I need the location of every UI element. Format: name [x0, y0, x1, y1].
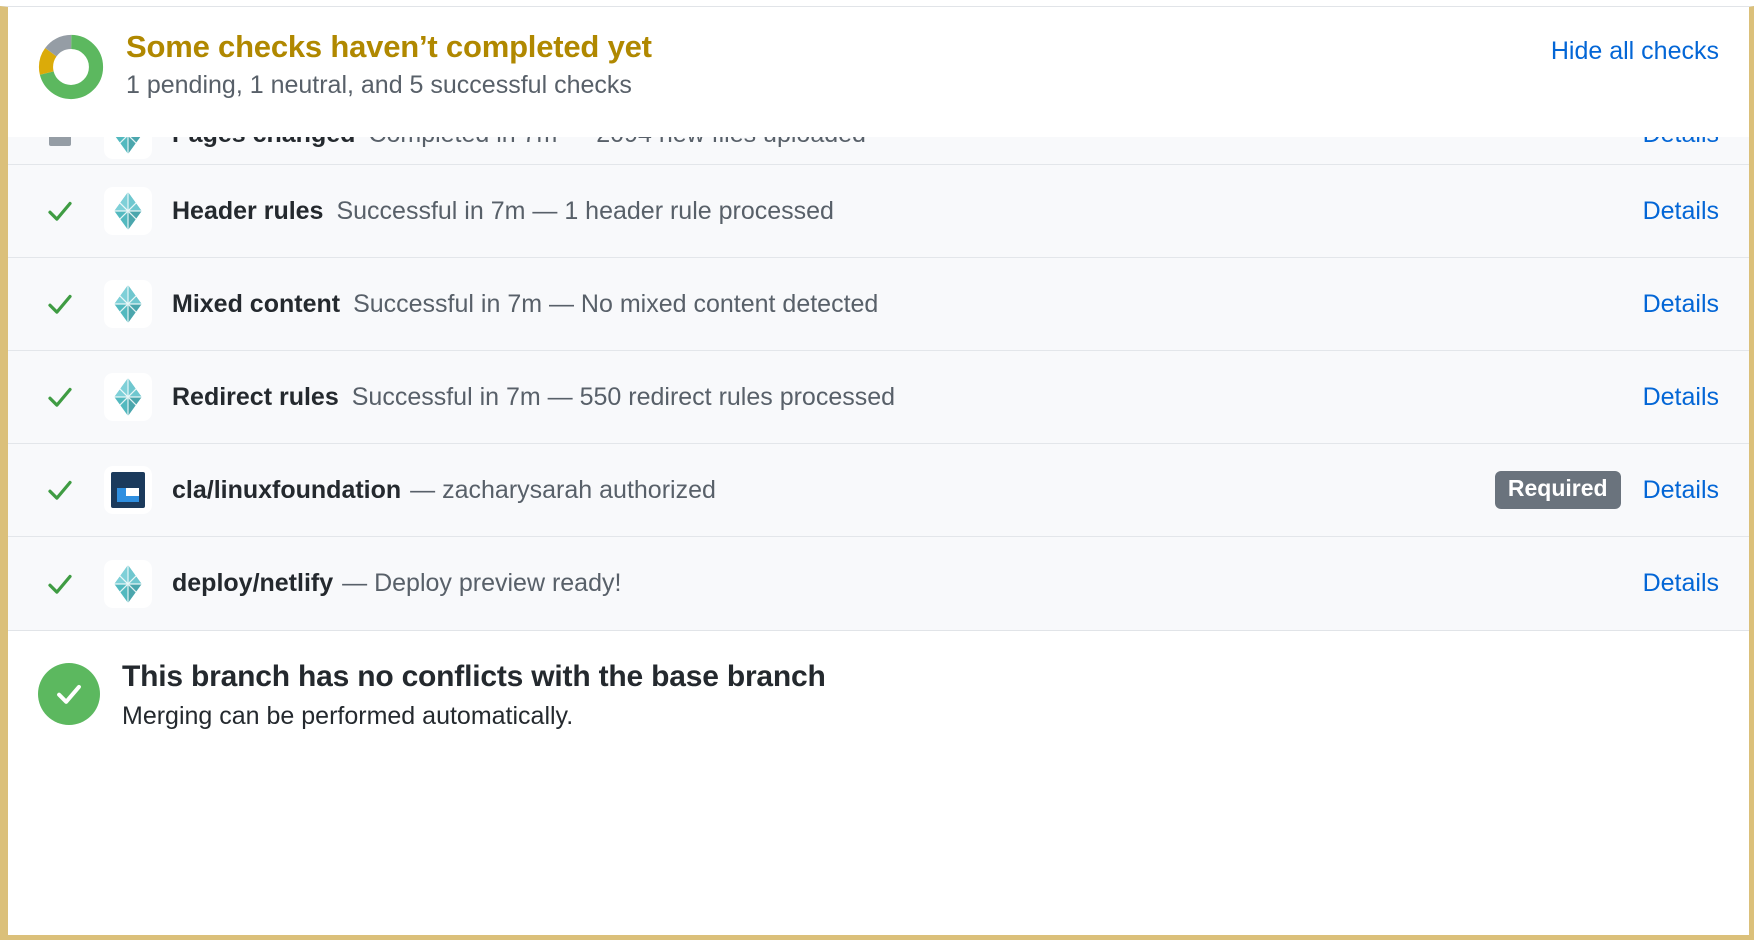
netlify-logo-icon — [104, 280, 152, 328]
check-circle-icon — [38, 663, 100, 725]
details-link[interactable]: Details — [1643, 383, 1719, 412]
details-link[interactable]: Details — [1643, 290, 1719, 319]
details-link[interactable]: Details — [1643, 476, 1719, 505]
table-row[interactable]: Header rules Successful in 7m — 1 header… — [8, 165, 1749, 258]
merge-conflict-status: This branch has no conflicts with the ba… — [8, 630, 1749, 765]
linuxfoundation-logo-icon — [104, 466, 152, 514]
merge-status-title: This branch has no conflicts with the ba… — [122, 659, 1719, 695]
check-name: Mixed content — [172, 290, 340, 319]
table-row[interactable]: Redirect rules Successful in 7m — 550 re… — [8, 351, 1749, 444]
check-description: Successful in 7m — 1 header rule process… — [336, 197, 833, 226]
checks-header-title: Some checks haven’t completed yet — [126, 29, 1551, 66]
check-name: cla/linuxfoundation — [172, 476, 401, 505]
check-name: Redirect rules — [172, 383, 339, 412]
merge-status-subtitle: Merging can be performed automatically. — [122, 701, 1719, 731]
netlify-logo-icon — [104, 187, 152, 235]
status-check-icon — [38, 475, 82, 505]
status-check-icon — [38, 382, 82, 412]
netlify-logo-icon — [104, 373, 152, 421]
pull-request-checks-panel: Some checks haven’t completed yet 1 pend… — [0, 0, 1754, 946]
checks-header: Some checks haven’t completed yet 1 pend… — [8, 7, 1749, 137]
table-row[interactable]: Mixed content Successful in 7m — No mixe… — [8, 258, 1749, 351]
table-row[interactable]: cla/linuxfoundation — zacharysarah autho… — [8, 444, 1749, 537]
check-name: deploy/netlify — [172, 569, 333, 598]
table-row[interactable]: deploy/netlify — Deploy preview ready! D… — [8, 537, 1749, 630]
status-check-icon — [38, 569, 82, 599]
checks-header-text: Some checks haven’t completed yet 1 pend… — [126, 29, 1551, 101]
status-badge: Required — [1495, 471, 1621, 508]
check-description: — Deploy preview ready! — [342, 569, 621, 598]
status-check-icon — [38, 289, 82, 319]
merge-status-text: This branch has no conflicts with the ba… — [122, 659, 1719, 731]
check-description: Successful in 7m — 550 redirect rules pr… — [352, 383, 895, 412]
merge-status-box: Some checks haven’t completed yet 1 pend… — [0, 6, 1754, 940]
hide-all-checks-link[interactable]: Hide all checks — [1551, 37, 1719, 66]
checks-summary-donut-icon — [38, 34, 104, 100]
netlify-logo-icon — [104, 560, 152, 608]
details-link[interactable]: Details — [1643, 197, 1719, 226]
details-link[interactable]: Details — [1643, 569, 1719, 598]
check-name: Header rules — [172, 197, 323, 226]
checks-header-subtitle: 1 pending, 1 neutral, and 5 successful c… — [126, 70, 1551, 101]
check-description: Successful in 7m — No mixed content dete… — [353, 290, 878, 319]
status-check-icon — [38, 196, 82, 226]
check-description: — zacharysarah authorized — [410, 476, 716, 505]
checks-list: Pages changed Completed in 7m — 2094 new… — [8, 137, 1749, 630]
